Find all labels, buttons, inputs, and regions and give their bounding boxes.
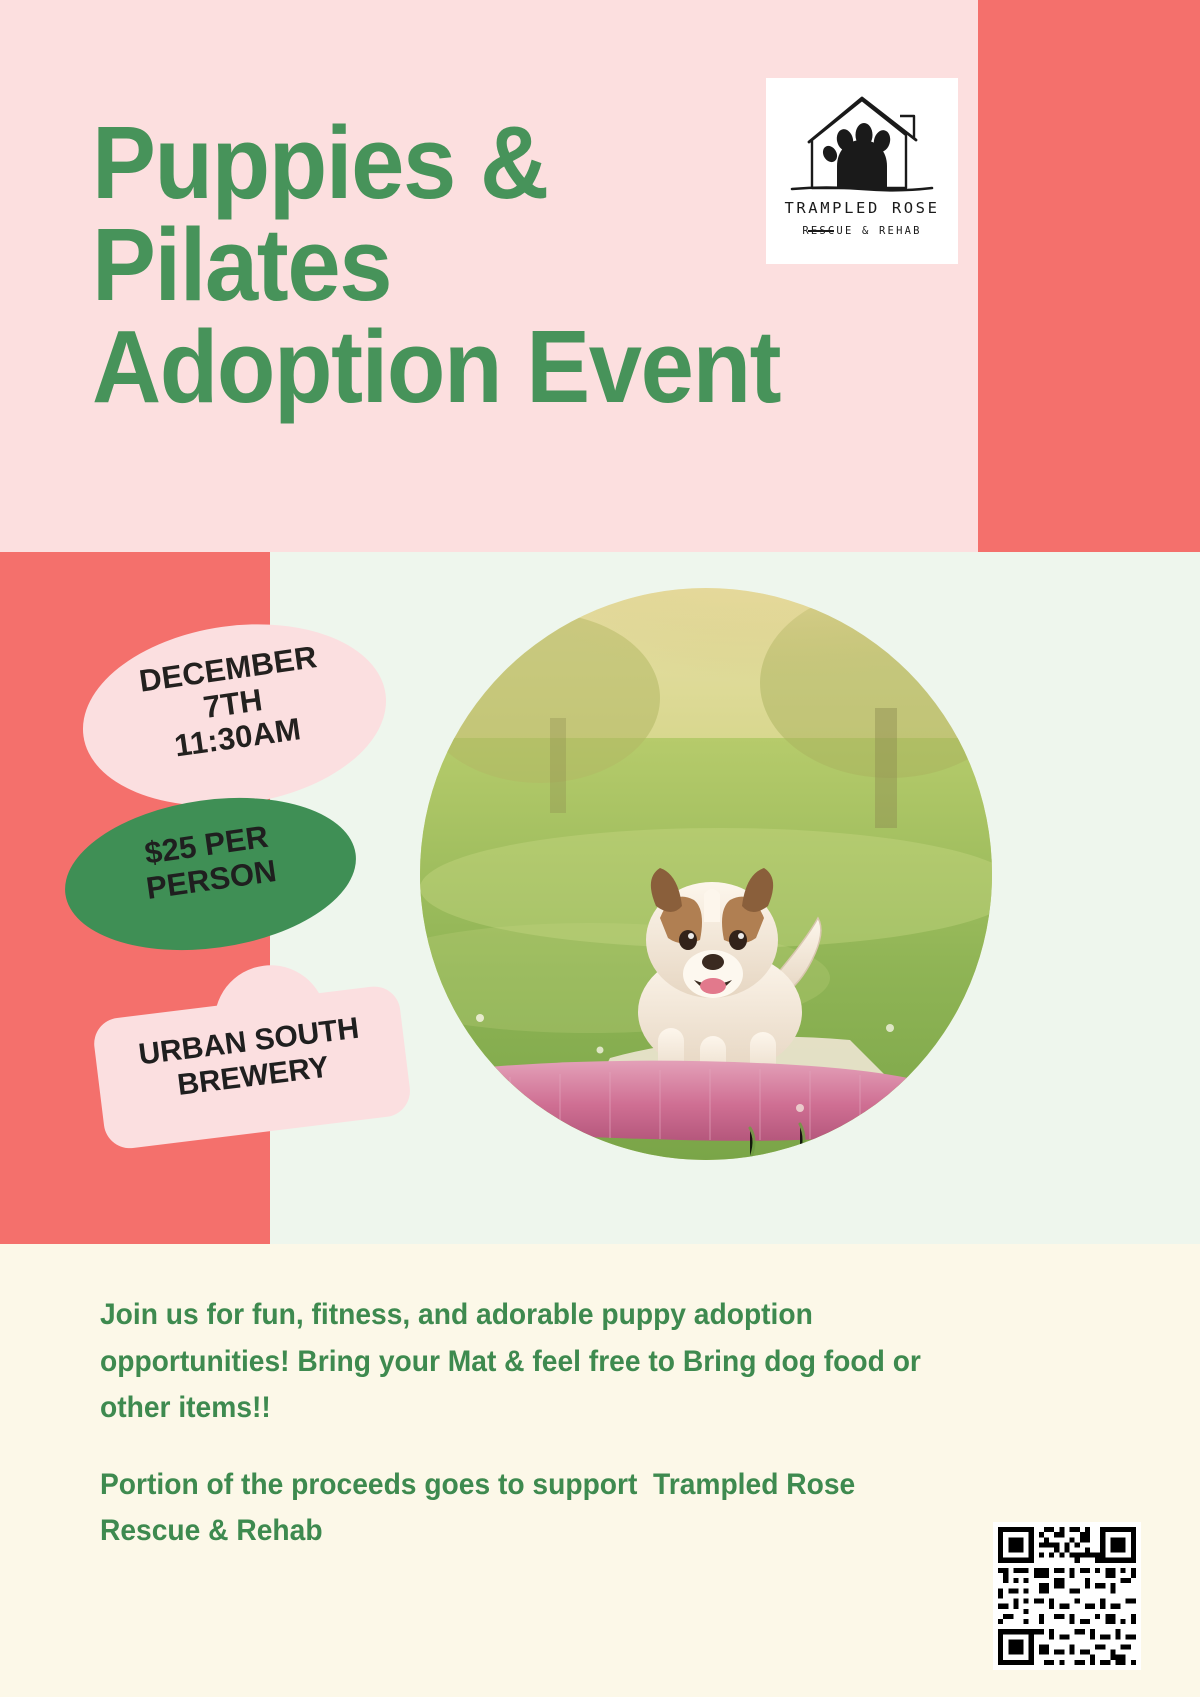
background-block-coral-right: [978, 0, 1200, 552]
organization-logo: TRAMPLED ROSE RESCUE & REHAB: [766, 78, 958, 264]
logo-tagline: RESCUE & REHAB: [766, 225, 958, 237]
qr-code-icon: [993, 1522, 1141, 1670]
description-paragraph-1: Join us for fun, fitness, and adorable p…: [100, 1292, 927, 1432]
page-title: Puppies & Pilates Adoption Event: [92, 112, 873, 418]
logo-name: TRAMPLED ROSE: [766, 199, 958, 217]
puppy-photo: [420, 588, 992, 1160]
event-description: Join us for fun, fitness, and adorable p…: [100, 1292, 927, 1555]
description-paragraph-2: Portion of the proceeds goes to support …: [100, 1462, 927, 1555]
qr-code[interactable]: [993, 1522, 1141, 1670]
